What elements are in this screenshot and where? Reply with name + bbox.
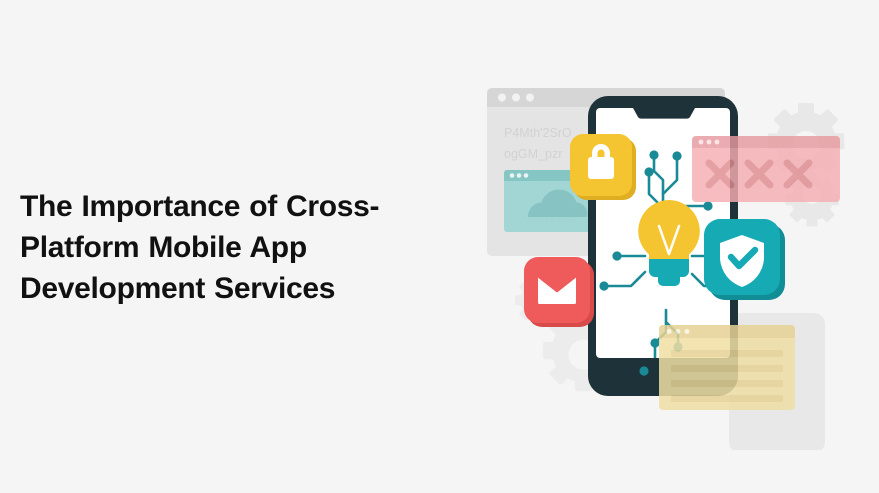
window-dot: [676, 329, 681, 334]
page-title: The Importance of Cross-Platform Mobile …: [20, 186, 450, 309]
document-browser-window: [659, 325, 795, 410]
window-dot: [667, 329, 672, 334]
phone-notch: [633, 108, 695, 119]
envelope-icon: [538, 276, 576, 304]
window-dot: [715, 140, 720, 145]
window-dot: [699, 140, 704, 145]
code-line: P4Mth'2SrO: [504, 126, 572, 140]
window-dot: [524, 173, 529, 178]
window-dot: [685, 329, 690, 334]
banner: The Importance of Cross-Platform Mobile …: [0, 0, 879, 493]
error-browser-window: [692, 136, 840, 202]
headline-block: The Importance of Cross-Platform Mobile …: [20, 186, 450, 309]
window-dot: [526, 94, 534, 102]
window-dot: [707, 140, 712, 145]
window-dot: [498, 94, 506, 102]
shield-badge: [704, 219, 785, 300]
illustration: P4Mth'2SrO ogGM_pzr Kj4E-9lP iXLCfiMY.ED: [470, 60, 879, 450]
lock-badge: [570, 134, 636, 200]
window-dot: [512, 94, 520, 102]
window-dot: [517, 173, 522, 178]
email-badge: [524, 257, 594, 327]
window-dot: [510, 173, 515, 178]
code-line: ogGM_pzr: [504, 147, 562, 161]
